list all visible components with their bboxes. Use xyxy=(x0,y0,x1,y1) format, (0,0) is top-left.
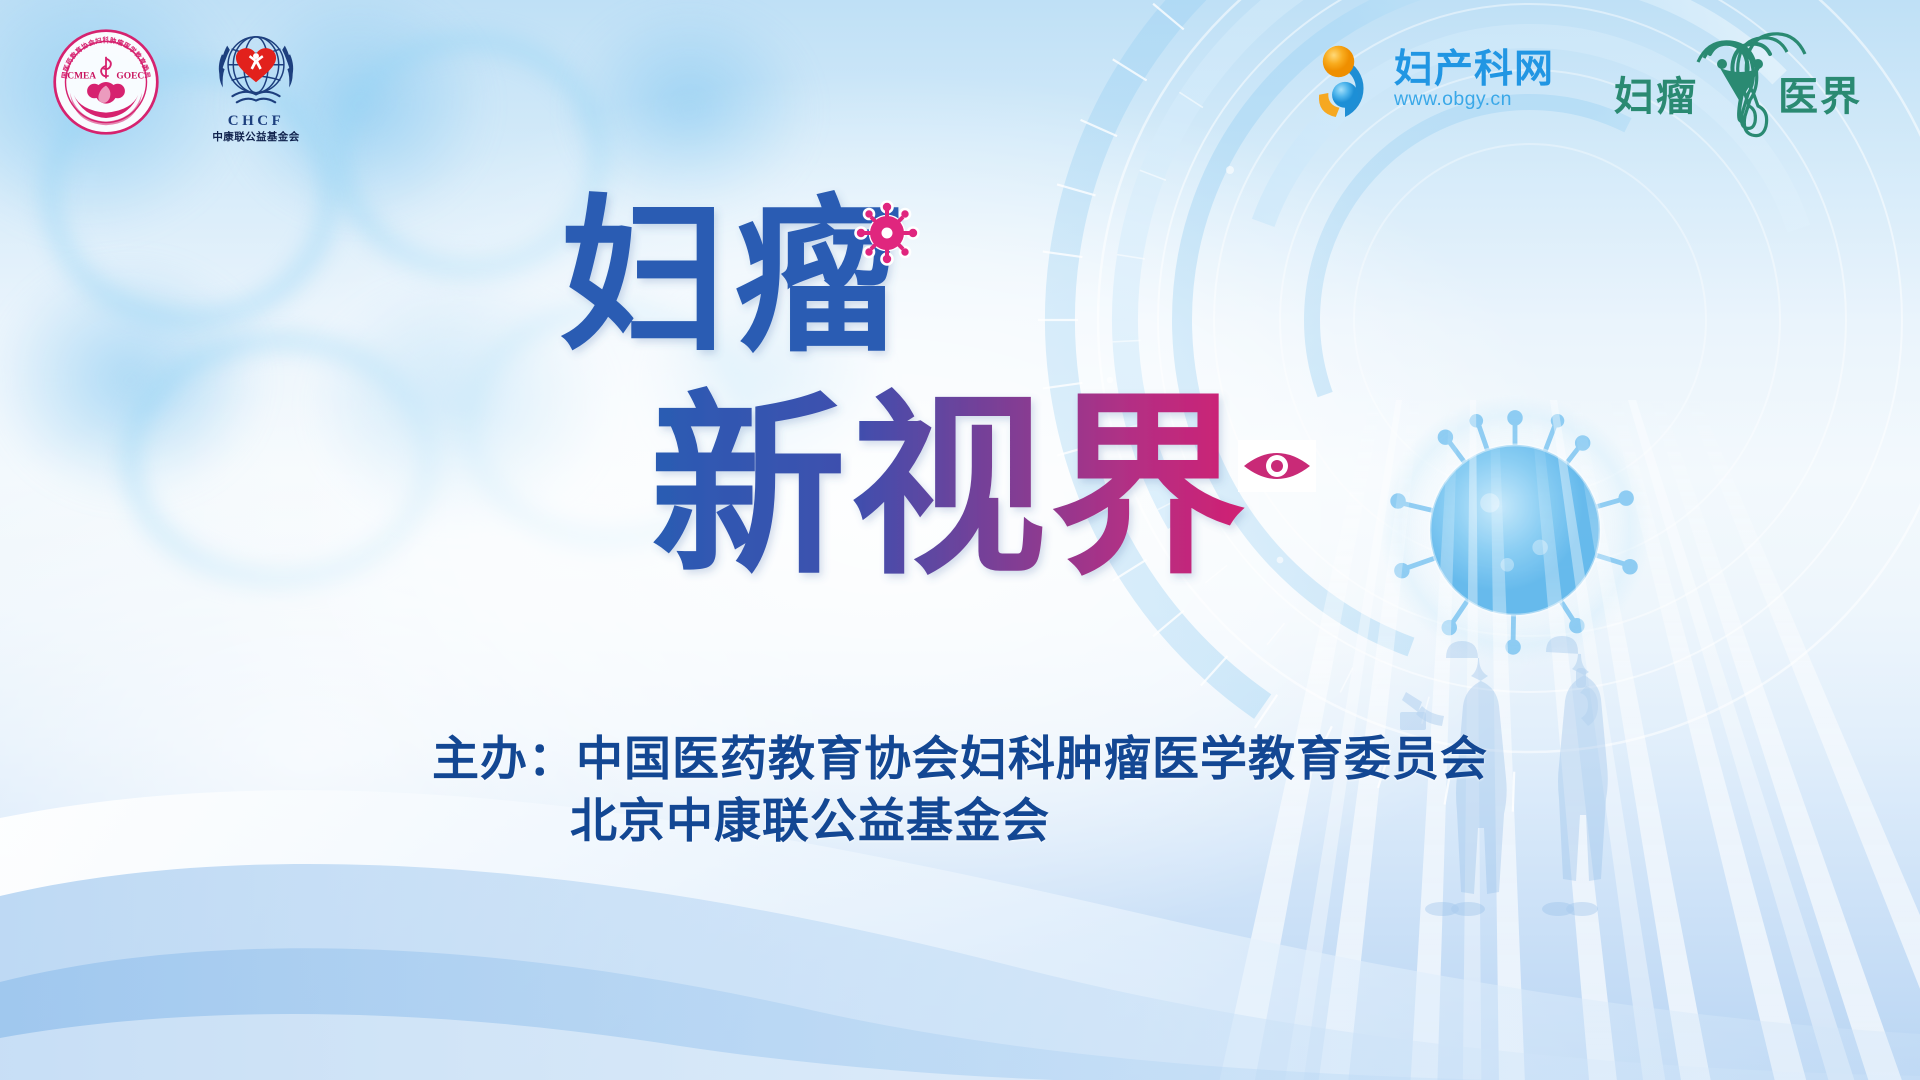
fulyi-word-left: 妇瘤 xyxy=(1614,75,1698,119)
eye-icon xyxy=(1238,440,1316,492)
poster-canvas: 中国医药教育协会妇科肿瘤医学教育委员会 CMEA GOEC xyxy=(0,0,1920,1080)
subtitle-line-2: 北京中康联公益基金会 xyxy=(0,790,1920,852)
obgy-mark-icon xyxy=(1308,41,1382,119)
background-wash xyxy=(0,0,1920,1080)
left-logo-group: 中国医药教育协会妇科肿瘤医学教育委员会 CMEA GOEC xyxy=(52,28,310,150)
chcf-chinese-name: 中康联公益基金会 xyxy=(212,132,299,144)
title-line-2: 新视界 xyxy=(650,378,1250,597)
main-title: 妇瘤 新视界 xyxy=(0,175,1920,645)
fulyi-word-right: 医界 xyxy=(1778,75,1862,119)
virus-cell-graphic xyxy=(1370,385,1660,675)
subtitle-line-1: 主办：中国医药教育协会妇科肿瘤医学教育委员会 xyxy=(0,728,1920,790)
subtitle-block: 主办：中国医药教育协会妇科肿瘤医学教育委员会 北京中康联公益基金会 xyxy=(0,728,1920,852)
obgy-website-logo[interactable]: 妇产科网 www.obgy.cn xyxy=(1308,41,1554,119)
cmea-abbr-left: CMEA xyxy=(67,71,96,81)
cmea-goec-seal: 中国医药教育协会妇科肿瘤医学教育委员会 CMEA GOEC xyxy=(52,28,160,136)
fulyi-yijie-logo[interactable]: 妇瘤 医界 xyxy=(1612,34,1868,126)
wave-ribbons xyxy=(0,650,1920,1080)
obgy-url: www.obgy.cn xyxy=(1394,89,1512,110)
virus-icon xyxy=(852,198,922,268)
chcf-globe-heart-icon xyxy=(208,28,304,112)
chcf-foundation-logo: CHCF 中康联公益基金会 xyxy=(202,28,310,150)
right-logo-group: 妇产科网 www.obgy.cn 妇瘤 xyxy=(1308,34,1868,126)
chcf-abbr: CHCF xyxy=(228,113,285,130)
cmea-abbr-right: GOEC xyxy=(116,71,144,81)
title-line-1: 妇瘤 xyxy=(560,183,908,371)
obgy-chinese-name: 妇产科网 xyxy=(1394,49,1554,90)
